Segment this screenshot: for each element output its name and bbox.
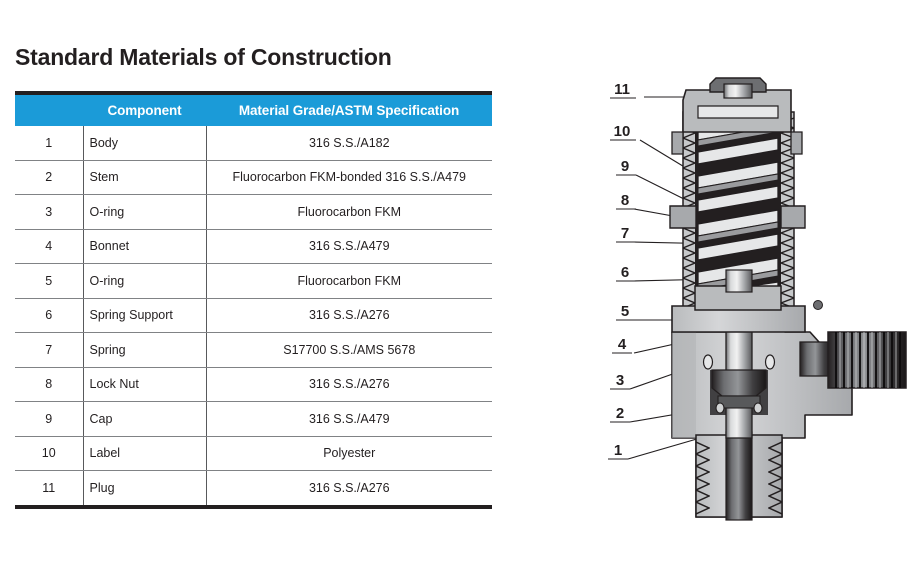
cell-material-spec: S17700 S.S./AMS 5678 xyxy=(206,333,492,368)
materials-table: Component Material Grade/ASTM Specificat… xyxy=(15,91,492,509)
callout-3: 3 xyxy=(616,372,624,389)
cell-component-name: Spring xyxy=(83,333,206,368)
table-row: 7SpringS17700 S.S./AMS 5678 xyxy=(15,333,492,368)
table-row: 4Bonnet316 S.S./A479 xyxy=(15,229,492,264)
cell-item-number: 11 xyxy=(15,471,83,507)
cell-item-number: 2 xyxy=(15,160,83,195)
callout-4: 4 xyxy=(618,336,627,353)
cell-material-spec: Polyester xyxy=(206,436,492,471)
outlet-port xyxy=(800,301,906,389)
callout-8: 8 xyxy=(621,192,629,209)
column-header-number xyxy=(15,93,83,126)
cell-item-number: 5 xyxy=(15,264,83,299)
cell-item-number: 7 xyxy=(15,333,83,368)
cell-material-spec: 316 S.S./A276 xyxy=(206,367,492,402)
table-row: 9Cap316 S.S./A479 xyxy=(15,402,492,437)
cell-component-name: O-ring xyxy=(83,195,206,230)
cell-item-number: 3 xyxy=(15,195,83,230)
cell-material-spec: 316 S.S./A182 xyxy=(206,126,492,160)
callout-1: 1 xyxy=(614,442,622,459)
table-row: 5O-ringFluorocarbon FKM xyxy=(15,264,492,299)
inlet-connection xyxy=(696,432,782,520)
cell-material-spec: 316 S.S./A276 xyxy=(206,471,492,507)
cell-component-name: O-ring xyxy=(83,264,206,299)
table-row: 2StemFluorocarbon FKM-bonded 316 S.S./A4… xyxy=(15,160,492,195)
table-row: 3O-ringFluorocarbon FKM xyxy=(15,195,492,230)
valve-cross-section-diagram: 11 10 9 8 7 6 5 4 3 2 1 xyxy=(600,70,922,550)
cell-material-spec: 316 S.S./A479 xyxy=(206,229,492,264)
cell-item-number: 4 xyxy=(15,229,83,264)
cell-item-number: 10 xyxy=(15,436,83,471)
page-title: Standard Materials of Construction xyxy=(15,44,392,71)
table-header-row: Component Material Grade/ASTM Specificat… xyxy=(15,93,492,126)
callout-6: 6 xyxy=(621,264,629,281)
table-row: 1Body316 S.S./A182 xyxy=(15,126,492,160)
table-row: 10LabelPolyester xyxy=(15,436,492,471)
table-row: 11Plug316 S.S./A276 xyxy=(15,471,492,507)
cell-item-number: 9 xyxy=(15,402,83,437)
cell-component-name: Bonnet xyxy=(83,229,206,264)
callout-11: 11 xyxy=(614,81,630,98)
cell-component-name: Stem xyxy=(83,160,206,195)
callout-5: 5 xyxy=(621,303,629,320)
cell-item-number: 1 xyxy=(15,126,83,160)
cell-component-name: Spring Support xyxy=(83,298,206,333)
cell-material-spec: 316 S.S./A479 xyxy=(206,402,492,437)
cell-material-spec: Fluorocarbon FKM xyxy=(206,195,492,230)
callout-9: 9 xyxy=(621,158,629,175)
cell-material-spec: Fluorocarbon FKM-bonded 316 S.S./A479 xyxy=(206,160,492,195)
cell-material-spec: Fluorocarbon FKM xyxy=(206,264,492,299)
cell-component-name: Lock Nut xyxy=(83,367,206,402)
callout-10: 10 xyxy=(614,123,631,140)
cell-component-name: Label xyxy=(83,436,206,471)
callout-numbers: 11 10 9 8 7 6 5 4 3 2 1 xyxy=(608,81,636,459)
column-header-component: Component xyxy=(83,93,206,126)
table-row: 6Spring Support316 S.S./A276 xyxy=(15,298,492,333)
valve-assembly xyxy=(670,78,906,520)
table-body: 1Body316 S.S./A1822StemFluorocarbon FKM-… xyxy=(15,126,492,507)
column-header-material: Material Grade/ASTM Specification xyxy=(206,93,492,126)
callout-7: 7 xyxy=(621,225,629,242)
cell-component-name: Body xyxy=(83,126,206,160)
cell-item-number: 6 xyxy=(15,298,83,333)
callout-2: 2 xyxy=(616,405,624,422)
cell-component-name: Cap xyxy=(83,402,206,437)
cell-material-spec: 316 S.S./A276 xyxy=(206,298,492,333)
cell-item-number: 8 xyxy=(15,367,83,402)
cell-component-name: Plug xyxy=(83,471,206,507)
table-row: 8Lock Nut316 S.S./A276 xyxy=(15,367,492,402)
